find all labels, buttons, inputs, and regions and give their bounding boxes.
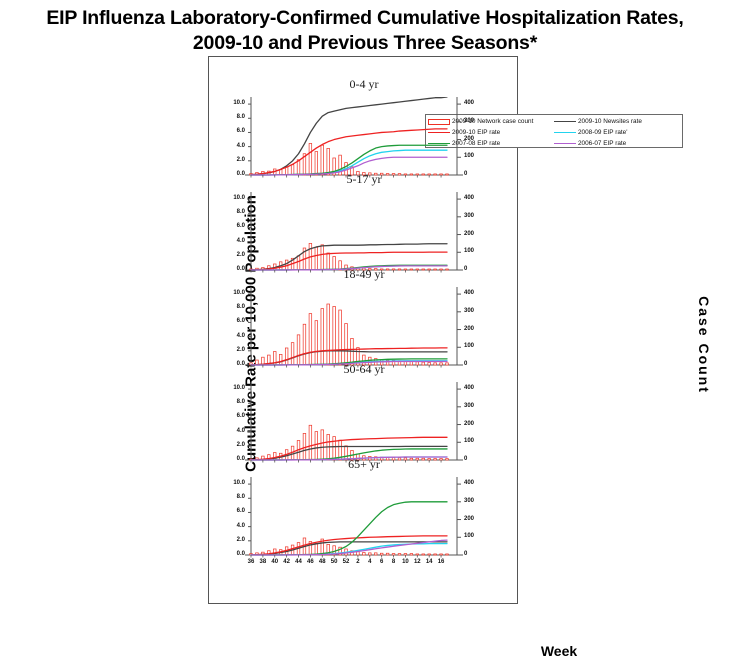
panel-5-17-yr: 5-17 yr0.02.04.06.08.010.00100200300400 [209, 174, 519, 278]
x-axis-title: Week [459, 643, 659, 659]
panel-50-64-yr: 50-64 yr0.02.04.06.08.010.00100200300400 [209, 364, 519, 468]
panel-title: 18-49 yr [209, 267, 519, 282]
panel-title: 50-64 yr [209, 362, 519, 377]
chart-title-line2: 2009-10 and Previous Three Seasons* [0, 31, 730, 56]
legend-swatch-line [554, 141, 576, 147]
legend-item: 2009-10 Newsites rate [554, 116, 680, 127]
y-axis-title-right: Case Count [696, 245, 712, 445]
legend-swatch-line [554, 119, 576, 125]
panel-65-yr: 65+ yr0.02.04.06.08.010.0010020030040036… [209, 459, 519, 563]
legend-item: 2006-07 EIP rate [554, 138, 680, 149]
panel-0-4-yr: 0-4 yr0.02.04.06.08.010.00100200300400 [209, 79, 519, 183]
legend-label: 2008-09 EIP rate' [578, 128, 627, 137]
plot-area [209, 477, 519, 569]
legend-swatch-line [554, 130, 576, 136]
chart-frame: Cumulative Rate per 10,000 Population Ca… [208, 56, 518, 604]
panel-title: 65+ yr [209, 457, 519, 472]
panel-title: 0-4 yr [209, 77, 519, 92]
legend-label: 2006-07 EIP rate [578, 139, 626, 148]
legend-label: 2009-10 Newsites rate [578, 117, 642, 126]
panel-18-49-yr: 18-49 yr0.02.04.06.08.010.00100200300400 [209, 269, 519, 373]
chart-title-line1: EIP Influenza Laboratory-Confirmed Cumul… [0, 6, 730, 31]
chart-title: EIP Influenza Laboratory-Confirmed Cumul… [0, 6, 730, 56]
legend-item: 2008-09 EIP rate' [554, 127, 680, 138]
panel-title: 5-17 yr [209, 172, 519, 187]
